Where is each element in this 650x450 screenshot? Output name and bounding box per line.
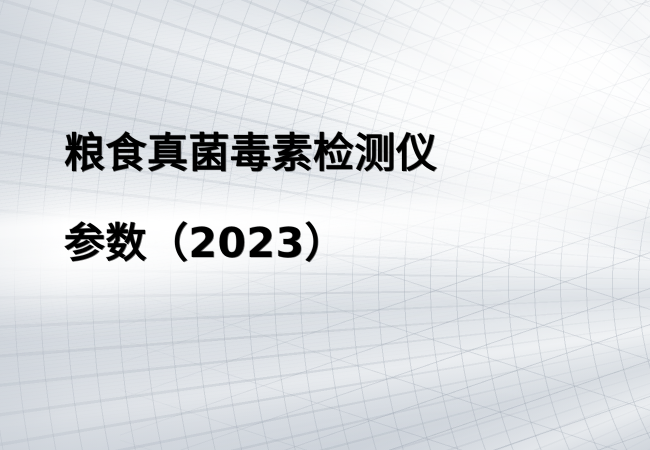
title-line-primary: 粮食真菌毒素检测仪	[64, 133, 584, 174]
title-banner: 粮食真菌毒素检测仪 参数（2023）	[0, 0, 650, 450]
title-line-secondary: 参数（2023）	[64, 223, 584, 264]
page-title: 粮食真菌毒素检测仪 参数（2023）	[64, 133, 584, 264]
